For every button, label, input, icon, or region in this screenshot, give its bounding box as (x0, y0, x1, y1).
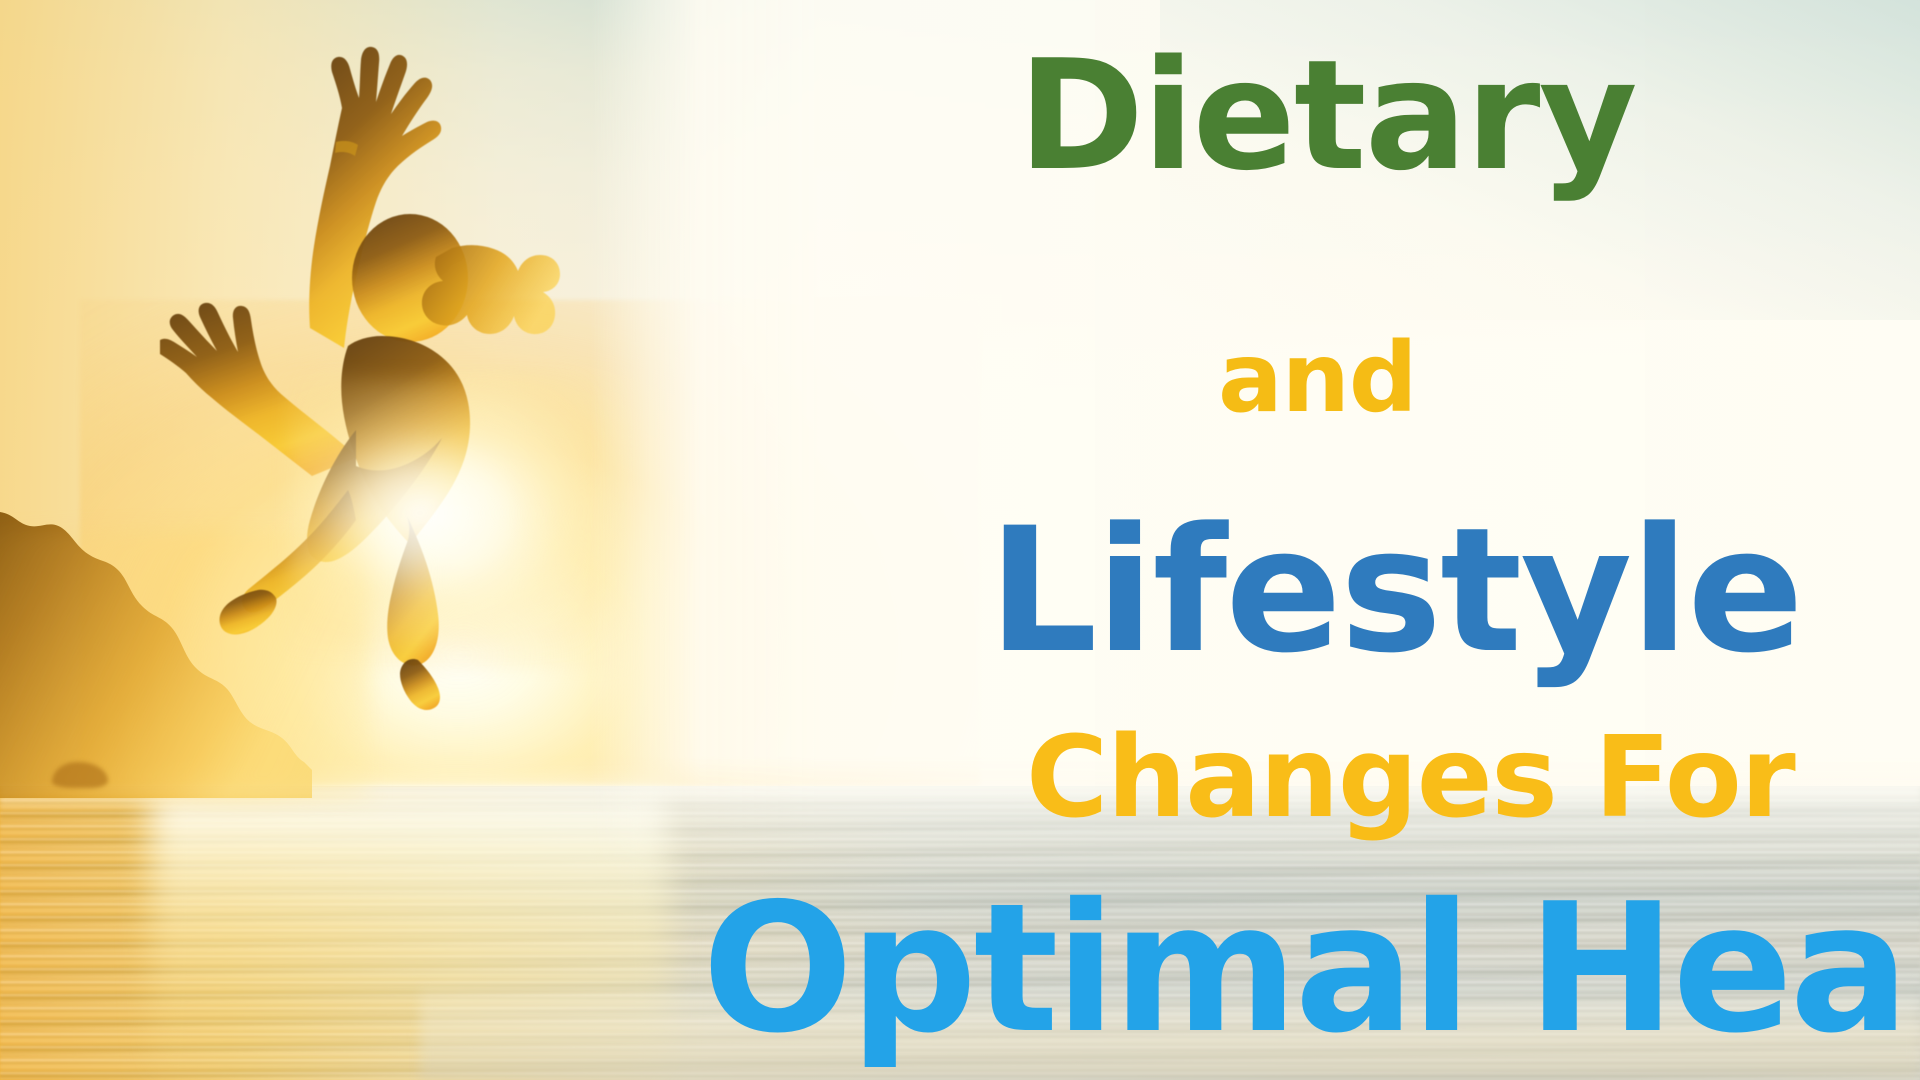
headline-line-lifestyle: Lifestyle (988, 505, 1802, 677)
poster-canvas: Dietary and Lifestyle Changes For Optima… (0, 0, 1920, 1080)
jumping-woman-silhouette (160, 10, 580, 750)
headline-line-dietary: Dietary (1018, 40, 1636, 192)
headline-line-changes-for: Changes For (1026, 722, 1794, 834)
headline-line-and: and (1218, 330, 1416, 426)
headline-line-optimal-health: Optimal Health (702, 880, 1920, 1058)
